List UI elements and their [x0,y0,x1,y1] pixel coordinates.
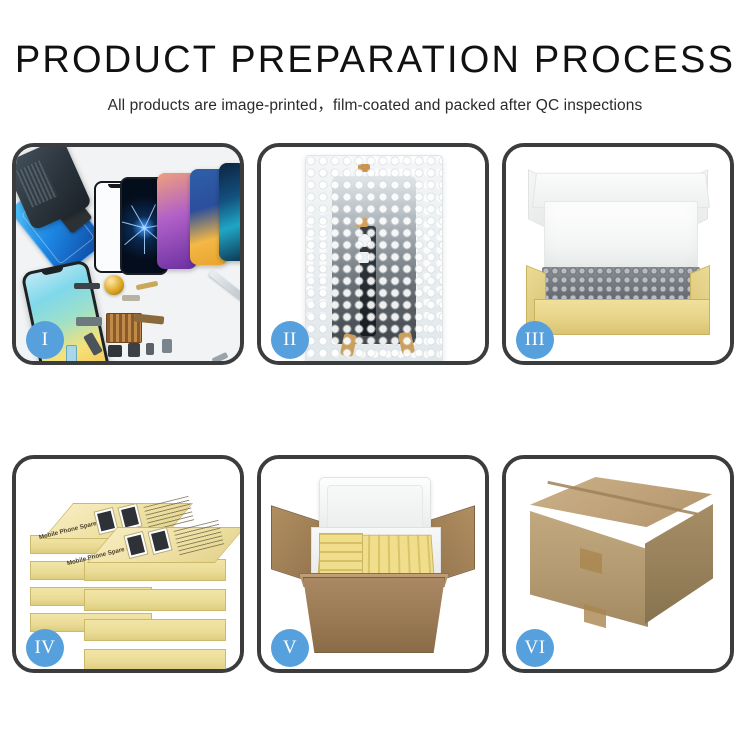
step-badge-3: III [516,321,554,359]
small-part-graphic [74,283,100,289]
bubble-texture-overlay [306,156,442,361]
page-title: PRODUCT PREPARATION PROCESS [0,0,750,81]
step-badge-1: I [26,321,64,359]
process-step-panel-5[interactable]: V [257,455,489,673]
step-badge-2: II [271,321,309,359]
small-part-graphic [136,281,159,290]
yellow-boxes-side-rows-graphic [319,533,363,579]
small-part-graphic [128,343,140,357]
small-part-graphic [66,345,77,361]
process-step-grid: I II [12,143,738,673]
process-step-panel-6[interactable]: VI [502,455,734,673]
step-badge-4: IV [26,629,64,667]
product-preparation-process-infographic: PRODUCT PREPARATION PROCESS All products… [0,0,750,750]
process-step-panel-3[interactable]: III [502,143,734,365]
small-part-graphic [108,345,122,357]
small-part-graphic [146,343,154,355]
bubble-wrap-bag-graphic [305,155,443,361]
process-step-panel-2[interactable]: II [257,143,489,365]
white-foam-sheet-graphic [544,201,698,271]
carton-front-graphic [303,577,445,653]
step-badge-5: V [271,629,309,667]
step-badge-6: VI [516,629,554,667]
small-part-graphic [162,339,172,353]
process-step-panel-4[interactable]: Mobile Phone Spare Parts Mobile Phone Sp… [12,455,244,673]
page-subtitle: All products are image-printed，film-coat… [0,81,750,115]
small-part-graphic [76,317,102,326]
tweezers-graphic [209,270,240,304]
small-part-graphic [211,352,228,361]
header: PRODUCT PREPARATION PROCESS All products… [0,0,750,115]
box-front-panel-graphic [534,299,710,335]
speaker-module-graphic [104,275,124,295]
small-part-graphic [122,295,140,301]
process-step-panel-1[interactable]: I [12,143,244,365]
teal-phone-graphic [219,163,240,261]
